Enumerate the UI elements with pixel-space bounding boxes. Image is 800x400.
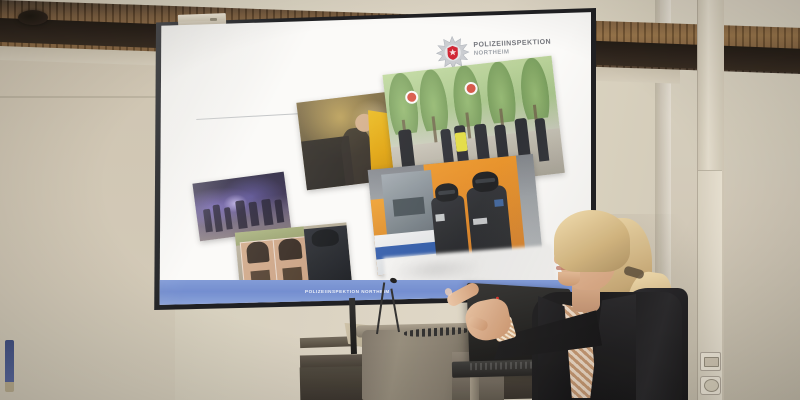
screenshot-scene: POLIZEIINSPEKTION NORTHEIM	[0, 0, 800, 400]
presenter-hair-top	[554, 210, 630, 272]
slide-footer-text: POLIZEIINSPEKTION NORTHEIM	[305, 289, 390, 294]
presenter-chin	[558, 272, 580, 286]
wall-seam-lower	[0, 96, 180, 98]
wall-blue-object-base	[5, 382, 14, 392]
network-socket-port	[704, 357, 719, 367]
ceiling-downlight-icon	[18, 10, 48, 25]
wall-blue-object	[5, 340, 14, 384]
wall-panel-left	[0, 52, 175, 400]
power-socket-port	[704, 379, 719, 392]
presenter	[498, 196, 688, 400]
screen-mount-screw	[210, 18, 217, 21]
